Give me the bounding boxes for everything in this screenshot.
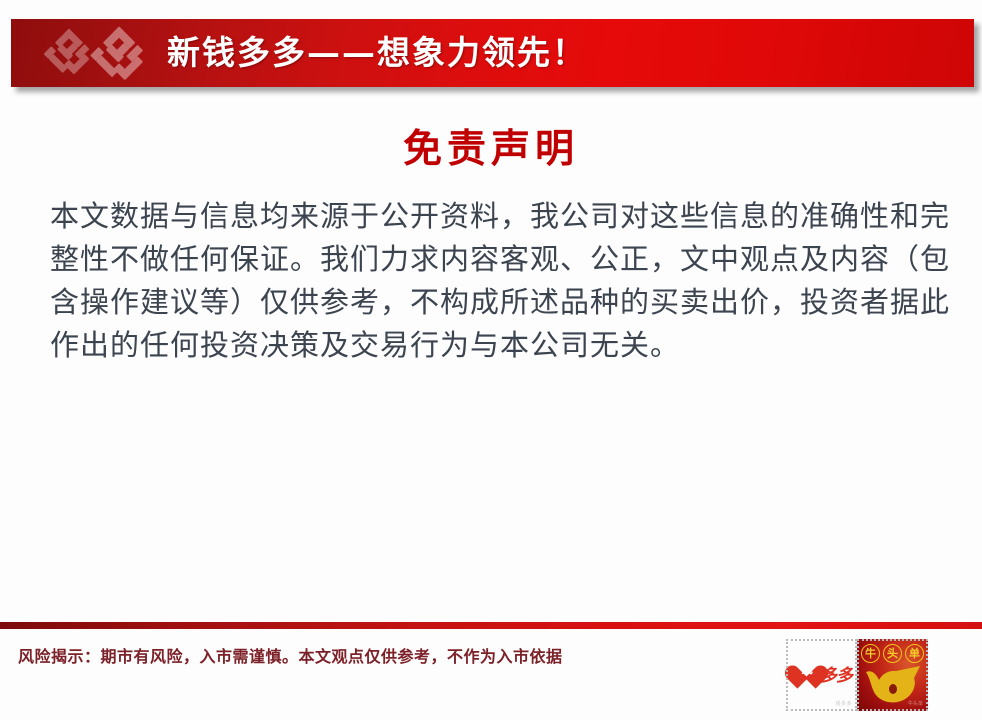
footer-divider-rule	[0, 622, 982, 629]
chinese-knot-diamond-icon	[29, 21, 157, 87]
bull-badge-2: 头	[883, 644, 902, 663]
stamp-brand-text: 多多	[820, 661, 852, 686]
bull-badge-row: 牛 头 单	[861, 644, 924, 663]
header-band: 新钱多多——想象力领先！	[11, 19, 974, 87]
bull-badge-1: 牛	[861, 644, 880, 663]
slide-canvas: 新钱多多——想象力领先！ 免责声明 本文数据与信息均来源于公开资料，我公司对这些…	[0, 0, 982, 720]
bull-silhouette-icon	[862, 664, 924, 706]
bull-badge-3: 单	[905, 644, 924, 663]
disclaimer-body-text: 本文数据与信息均来源于公开资料，我公司对这些信息的准确性和完整性不做任何保证。我…	[50, 195, 950, 367]
risk-disclosure-note: 风险揭示：期市有风险，入市需谨慎。本文观点仅供参考，不作为入市依据	[18, 643, 563, 667]
stamp-tiny-mark: 钱多多	[835, 700, 852, 707]
bull-head-stamp-icon: 牛 头 单 牛头单	[857, 639, 928, 711]
heart-stamp-icon: 钱 多多 钱多多	[786, 639, 857, 711]
page-title: 免责声明	[0, 118, 982, 174]
heart-character: 钱	[793, 658, 820, 677]
header-title: 新钱多多——想象力领先！	[167, 19, 587, 87]
heart-shape: 钱	[793, 653, 823, 683]
brand-stamp-group: 钱 多多 钱多多 牛 头 单 牛头单	[786, 639, 928, 711]
